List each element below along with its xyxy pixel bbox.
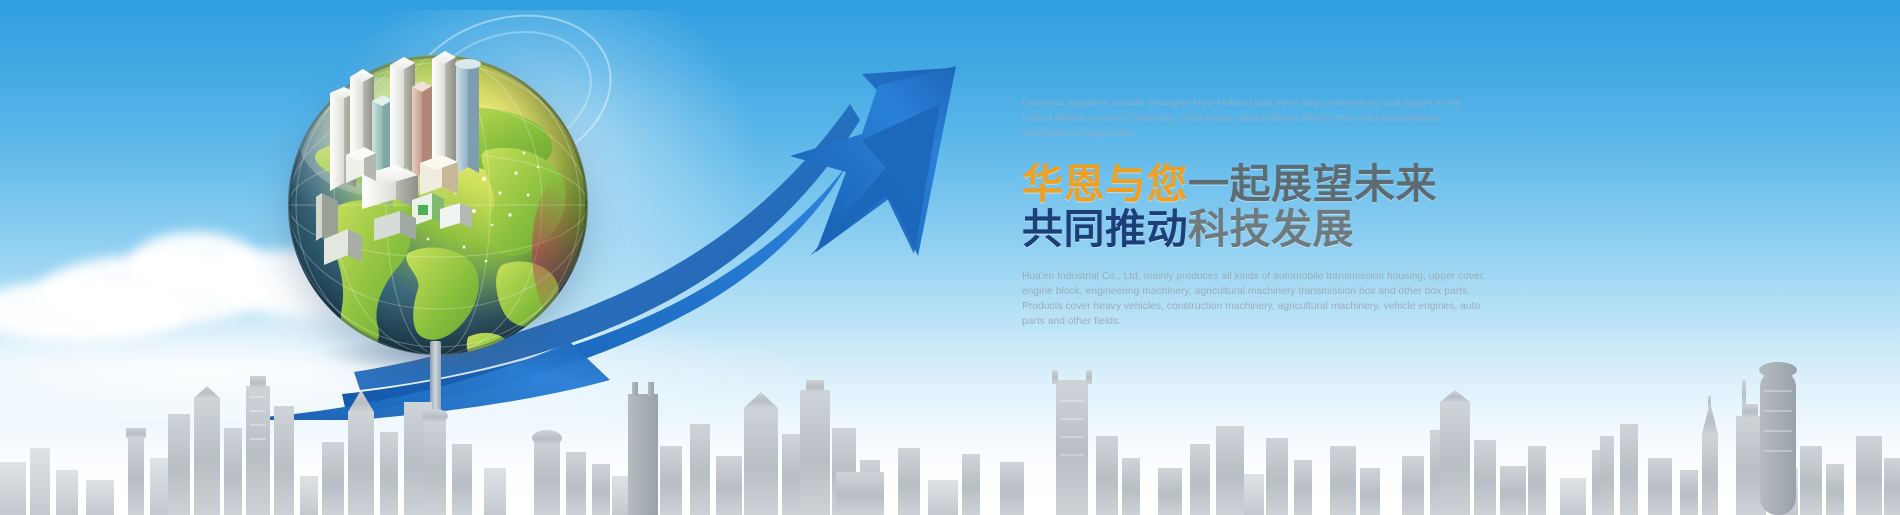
hero-banner: Domestic suppliers include Shanghai New …: [0, 0, 1900, 515]
headline-line2-rest: 科技发展: [1188, 205, 1354, 253]
headline-line1-rest: 一起展望未来: [1188, 160, 1437, 208]
buildings-on-globe-icon: [316, 43, 536, 273]
globe-earth-icon: [288, 55, 598, 385]
headline-line-1: 华恩与您一起展望未来: [1022, 162, 1492, 207]
cloud-icon: [130, 232, 260, 294]
headline: 华恩与您一起展望未来 共同推动科技发展: [1022, 162, 1492, 252]
banner-copy: Domestic suppliers include Shanghai New …: [1022, 96, 1492, 329]
headline-line1-accent: 华恩与您: [1022, 160, 1188, 208]
headline-line2-accent: 共同推动: [1022, 205, 1188, 253]
top-paragraph: Domestic suppliers include Shanghai New …: [1022, 96, 1492, 142]
bottom-paragraph: Hua'en Industrial Co., Ltd. mainly produ…: [1022, 269, 1492, 330]
headline-line-2: 共同推动科技发展: [1022, 207, 1492, 252]
city-skyline-icon: [0, 340, 1900, 515]
